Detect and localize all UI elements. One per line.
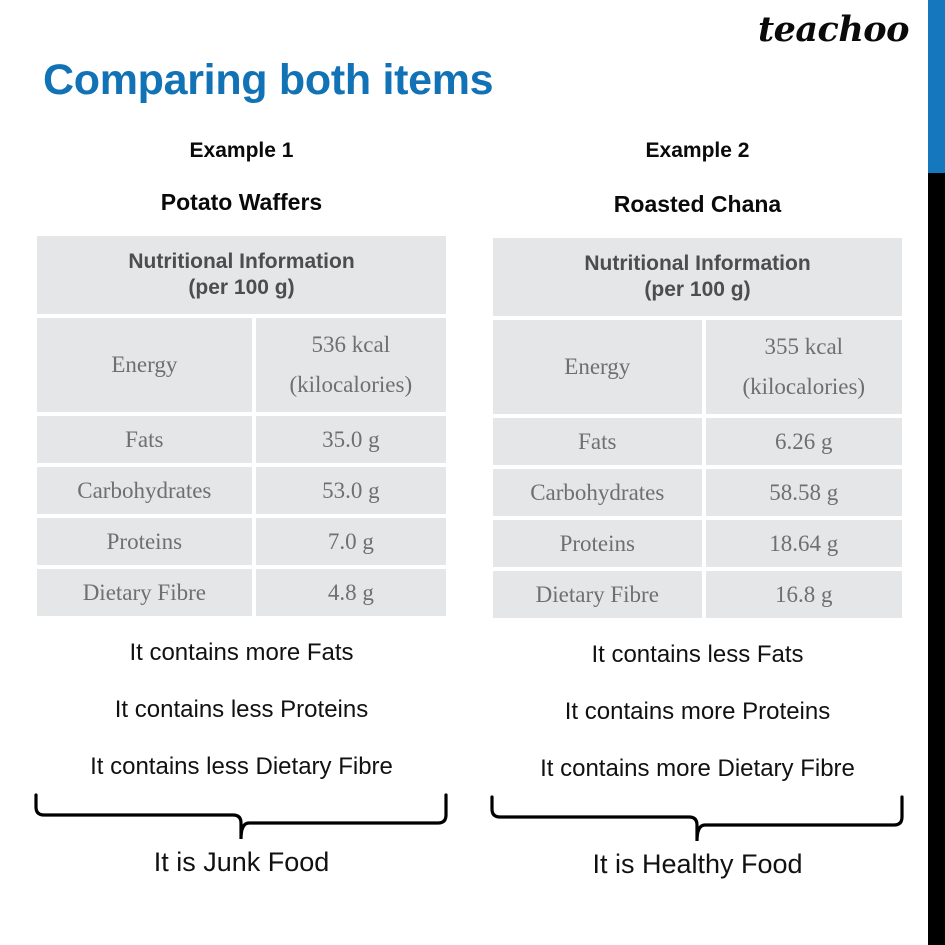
table-row: Carbohydrates 58.58 g <box>493 469 902 516</box>
nutrient-value-line1: 355 kcal <box>765 334 844 359</box>
nutrition-header-line1: Nutritional Information <box>128 250 354 273</box>
nutrient-label: Fats <box>37 416 252 463</box>
item-name-left: Potato Waffers <box>33 191 450 214</box>
nutrition-table-header-right: Nutritional Information (per 100 g) <box>493 238 902 316</box>
table-row: Fats 35.0 g <box>37 416 446 463</box>
nutrient-label: Carbohydrates <box>493 469 702 516</box>
nutrient-value: 4.8 g <box>256 569 446 616</box>
table-row: Fats 6.26 g <box>493 418 902 465</box>
nutrient-value: 7.0 g <box>256 518 446 565</box>
table-row: Carbohydrates 53.0 g <box>37 467 446 514</box>
conclusion-item: It contains more Dietary Fibre <box>489 757 906 781</box>
summary-brace-left <box>33 793 450 841</box>
brace-icon <box>489 795 906 843</box>
nutrient-value: 355 kcal (kilocalories) <box>706 320 902 414</box>
nutrient-label: Proteins <box>493 520 702 567</box>
table-row: Proteins 7.0 g <box>37 518 446 565</box>
comparison-column-right: Example 2 Roasted Chana Nutritional Info… <box>489 140 906 878</box>
nutrient-value-line2: (kilocalories) <box>290 372 413 397</box>
nutrient-value-line1: 536 kcal <box>312 332 391 357</box>
nutrient-value: 53.0 g <box>256 467 446 514</box>
nutrient-label: Carbohydrates <box>37 467 252 514</box>
page-title: Comparing both items <box>43 58 493 103</box>
nutrient-value: 536 kcal (kilocalories) <box>256 318 446 412</box>
item-name-right: Roasted Chana <box>489 193 906 216</box>
right-edge-accent-blue <box>928 0 945 173</box>
nutrient-value: 18.64 g <box>706 520 902 567</box>
nutrient-label: Proteins <box>37 518 252 565</box>
conclusion-item: It contains more Fats <box>33 641 450 665</box>
comparison-column-left: Example 1 Potato Waffers Nutritional Inf… <box>33 140 450 876</box>
conclusion-list-right: It contains less Fats It contains more P… <box>489 643 906 781</box>
table-row: Dietary Fibre 16.8 g <box>493 571 902 618</box>
nutrient-value: 6.26 g <box>706 418 902 465</box>
summary-brace-right <box>489 795 906 843</box>
brace-icon <box>33 793 450 841</box>
table-row: Energy 536 kcal (kilocalories) <box>37 318 446 412</box>
nutrient-value: 58.58 g <box>706 469 902 516</box>
example-label-left: Example 1 <box>33 140 450 161</box>
table-row: Energy 355 kcal (kilocalories) <box>493 320 902 414</box>
conclusion-item: It contains less Dietary Fibre <box>33 755 450 779</box>
table-row: Dietary Fibre 4.8 g <box>37 569 446 616</box>
right-edge-accent-black <box>928 173 945 945</box>
conclusion-list-left: It contains more Fats It contains less P… <box>33 641 450 779</box>
table-row: Proteins 18.64 g <box>493 520 902 567</box>
nutrient-label: Dietary Fibre <box>493 571 702 618</box>
conclusion-item: It contains more Proteins <box>489 700 906 724</box>
nutrient-label: Dietary Fibre <box>37 569 252 616</box>
conclusion-item: It contains less Fats <box>489 643 906 667</box>
nutrition-header-line2: (per 100 g) <box>188 276 294 299</box>
verdict-left: It is Junk Food <box>33 849 450 876</box>
example-label-right: Example 2 <box>489 140 906 161</box>
teachoo-logo: teachoo <box>758 12 909 47</box>
slide-canvas: teachoo Comparing both items Example 1 P… <box>0 0 945 945</box>
nutrient-value: 35.0 g <box>256 416 446 463</box>
nutrition-header-line1: Nutritional Information <box>584 252 810 275</box>
conclusion-item: It contains less Proteins <box>33 698 450 722</box>
nutrient-value: 16.8 g <box>706 571 902 618</box>
nutrition-table-right: Nutritional Information (per 100 g) Ener… <box>489 234 906 622</box>
nutrition-header-line2: (per 100 g) <box>644 278 750 301</box>
nutrient-label: Energy <box>37 318 252 412</box>
nutrient-value-line2: (kilocalories) <box>742 374 865 399</box>
nutrient-label: Energy <box>493 320 702 414</box>
verdict-right: It is Healthy Food <box>489 851 906 878</box>
nutrient-label: Fats <box>493 418 702 465</box>
nutrition-table-left: Nutritional Information (per 100 g) Ener… <box>33 232 450 620</box>
nutrition-table-header-left: Nutritional Information (per 100 g) <box>37 236 446 314</box>
